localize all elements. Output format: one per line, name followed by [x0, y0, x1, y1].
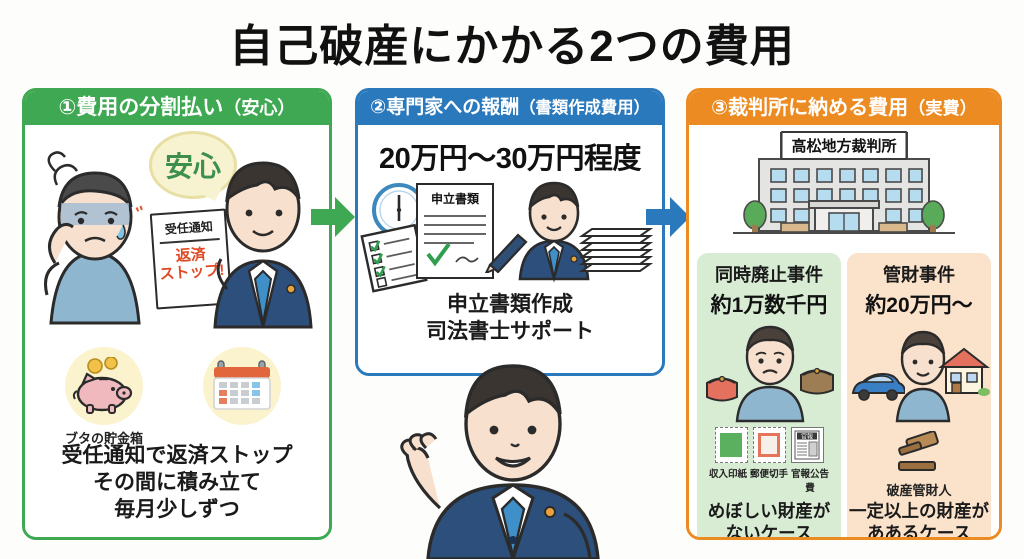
- infographic-root: 自己破産にかかる2つの費用 ①費用の分割払い（安心）: [0, 0, 1024, 559]
- panel1-body: 安心 '' 受任通知 返済 ストップ!: [25, 125, 329, 536]
- subbox-right-amount: 約20万円～: [847, 289, 991, 319]
- worried-person-illustration: [33, 145, 153, 345]
- brown-wallet-icon: [797, 363, 837, 397]
- panel-installment-payment: ①費用の分割払い（安心）: [22, 88, 332, 540]
- application-document: 申立書類: [416, 183, 494, 279]
- panel-expert-fee: ②専門家への報酬（書類作成費用） 20万円～30万円程度: [355, 88, 665, 376]
- subbox-right-illustration: [847, 323, 991, 427]
- subbox-left-caption: めぼしい財産が ないケース: [697, 501, 841, 540]
- subbox-right-caption-line2: ああるケース: [847, 523, 991, 540]
- panel2-body: 20万円～30万円程度: [358, 135, 662, 376]
- panel2-caption-line1: 申立書類作成: [358, 291, 662, 318]
- panel3-header: ③裁判所に納める費用（実費）: [689, 91, 999, 125]
- subbox-left-illustration: [697, 323, 841, 427]
- house-icon: [937, 345, 991, 397]
- piggy-bank-icon: [65, 347, 143, 425]
- subbox-left-caption-line1: めぼしい財産が: [697, 501, 841, 523]
- panel1-illustration: 安心 '' 受任通知 返済 ストップ!: [25, 125, 329, 341]
- panel1-header-sub: （安心）: [223, 98, 295, 118]
- postage-stamp-icon: [753, 427, 786, 463]
- panel2-amount: 20万円～30万円程度: [358, 135, 662, 177]
- subbox-administration-case: 管財事件 約20万円～: [847, 253, 991, 540]
- subbox-right-caption-line1: 一定以上の財産が: [847, 501, 991, 523]
- panel2-illustration: 申立書類: [358, 177, 662, 287]
- suited-advisor-mascot: [368, 358, 658, 559]
- panel1-caption-line3: 毎月少しずつ: [25, 497, 329, 524]
- svg-text:官報: 官報: [801, 433, 813, 441]
- panel1-caption-line2: その間に積み立て: [25, 470, 329, 497]
- stamp-label-gazette: 官報公告費: [791, 466, 829, 494]
- panel3-body: 高松地方裁判所: [689, 125, 999, 536]
- gavel-label: 破産管財人: [847, 480, 991, 499]
- stamp-label-revenue: 収入印紙: [709, 466, 747, 494]
- panel1-header: ①費用の分割払い（安心）: [25, 91, 329, 125]
- subbox-left-caption-line2: ないケース: [697, 523, 841, 540]
- courthouse-illustration: 高松地方裁判所: [689, 125, 999, 245]
- panel3-header-main: ③裁判所に納める費用: [711, 97, 908, 119]
- panel2-caption-line2: 司法書士サポート: [358, 318, 662, 345]
- page-title: 自己破産にかかる2つの費用: [0, 10, 1024, 74]
- arrow-panel1-to-panel2: [311, 195, 357, 239]
- gazette-icon: 官報: [791, 427, 824, 463]
- panel2-header-main: ②専門家への報酬: [370, 97, 519, 118]
- panel-court-cost: ③裁判所に納める費用（実費） 高松地方裁判所: [686, 88, 1002, 540]
- stamp-label-postage: 郵便切手: [750, 466, 788, 494]
- panel2-caption: 申立書類作成 司法書士サポート: [358, 291, 662, 346]
- stamp-row: 官報: [697, 427, 841, 463]
- application-document-title: 申立書類: [418, 190, 492, 207]
- subbox-right-title: 管財事件: [847, 261, 991, 287]
- panel2-header: ②専門家への報酬（書類作成費用）: [358, 91, 662, 125]
- panel3-header-sub: （実費）: [908, 98, 977, 118]
- panel1-caption-line1: 受任通知で返済ストップ: [25, 443, 329, 470]
- panel1-caption: 受任通知で返済ストップ その間に積み立て 毎月少しずつ: [25, 443, 329, 524]
- subbox-left-amount: 約1万数千円: [697, 289, 841, 319]
- calendar-icon: [203, 347, 281, 425]
- panel2-header-sub: （書類作成費用）: [519, 99, 650, 117]
- gavel-icon: [889, 431, 949, 477]
- subbox-simultaneous-abolition: 同時廃止事件 約1万数千円: [697, 253, 841, 540]
- revenue-stamp-icon: [715, 427, 748, 463]
- stamp-labels: 収入印紙 郵便切手 官報公告費: [697, 466, 841, 494]
- lawyer-person-illustration: [197, 139, 327, 344]
- subbox-right-caption: 一定以上の財産が ああるケース: [847, 501, 991, 540]
- subbox-left-title: 同時廃止事件: [697, 261, 841, 287]
- paper-stack-icon: [576, 219, 656, 281]
- courthouse-sign: 高松地方裁判所: [780, 131, 907, 160]
- panel1-header-main: ①費用の分割払い: [59, 96, 224, 119]
